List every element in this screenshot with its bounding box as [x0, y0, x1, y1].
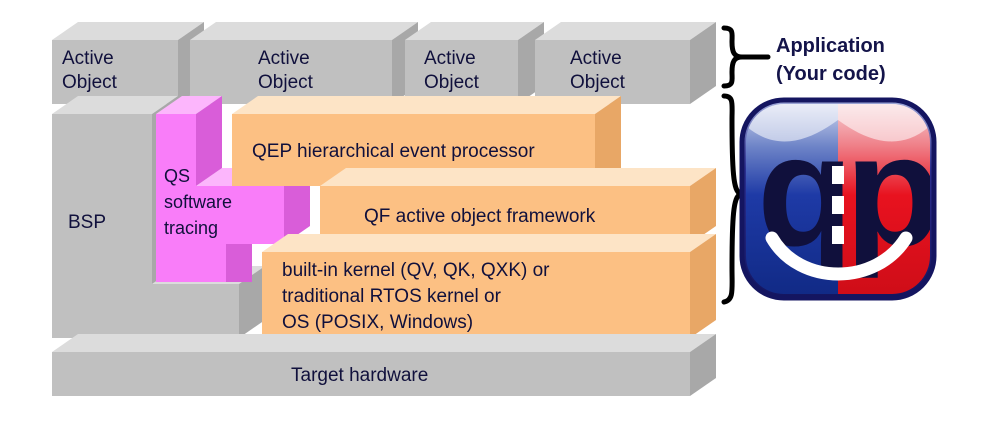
logo-colon-dot-mid: [832, 196, 844, 214]
application-label-line1: Application: [776, 35, 885, 57]
hardware-top-face: [52, 334, 716, 352]
qf-block: QF active object framework: [320, 168, 716, 244]
bsp-label: BSP: [68, 212, 106, 233]
qs-label-line3: tracing: [164, 218, 218, 238]
kernel-top-face: [262, 234, 716, 252]
qs-side-face-stem: [226, 244, 252, 282]
logo-inner: q p: [746, 103, 942, 294]
active-object-label-1-line1: Active: [62, 48, 114, 69]
qp-logo: q p: [742, 100, 942, 298]
application-label-line2: (Your code): [776, 63, 886, 85]
block-top-face: [190, 22, 418, 40]
block-top-face: [535, 22, 716, 40]
active-object-label-4-line1: Active: [570, 48, 622, 69]
qep-top-face: [232, 96, 621, 114]
active-object-label-4-line2: Object: [570, 72, 626, 93]
architecture-diagram: Active Object Active Object Active Objec…: [0, 0, 1000, 421]
active-object-block-1: Active Object: [52, 22, 204, 104]
logo-colon-dot-top: [832, 166, 844, 184]
target-hardware-block: Target hardware: [52, 334, 716, 396]
active-object-block-3: Active Object: [405, 22, 544, 104]
qf-top-face: [320, 168, 716, 186]
qs-label-line2: software: [164, 192, 232, 212]
qs-label-line1: QS: [164, 166, 190, 186]
diagram-canvas: Active Object Active Object Active Objec…: [0, 0, 1000, 421]
kernel-label-line3: OS (POSIX, Windows): [282, 312, 473, 333]
active-object-label-1-line2: Object: [62, 72, 118, 93]
active-object-label-2-line1: Active: [258, 48, 310, 69]
logo-letter-q: q: [757, 103, 854, 279]
kernel-side-face: [690, 234, 716, 338]
qs-front-face-lower-stem: [156, 244, 226, 282]
active-object-label-3-line1: Active: [424, 48, 476, 69]
active-object-block-4: Active Object: [535, 22, 716, 104]
kernel-label-line1: built-in kernel (QV, QK, QXK) or: [282, 260, 550, 281]
logo-colon-dot-bottom: [832, 226, 844, 244]
qep-label: QEP hierarchical event processor: [252, 141, 535, 162]
kernel-block: built-in kernel (QV, QK, QXK) or traditi…: [262, 234, 716, 338]
active-object-block-2: Active Object: [190, 22, 418, 104]
kernel-label-line2: traditional RTOS kernel or: [282, 286, 502, 307]
active-object-label-2-line2: Object: [258, 72, 314, 93]
block-top-face: [52, 22, 204, 40]
active-object-label-3-line2: Object: [424, 72, 480, 93]
target-hardware-label: Target hardware: [291, 365, 428, 386]
qf-label: QF active object framework: [364, 206, 596, 227]
